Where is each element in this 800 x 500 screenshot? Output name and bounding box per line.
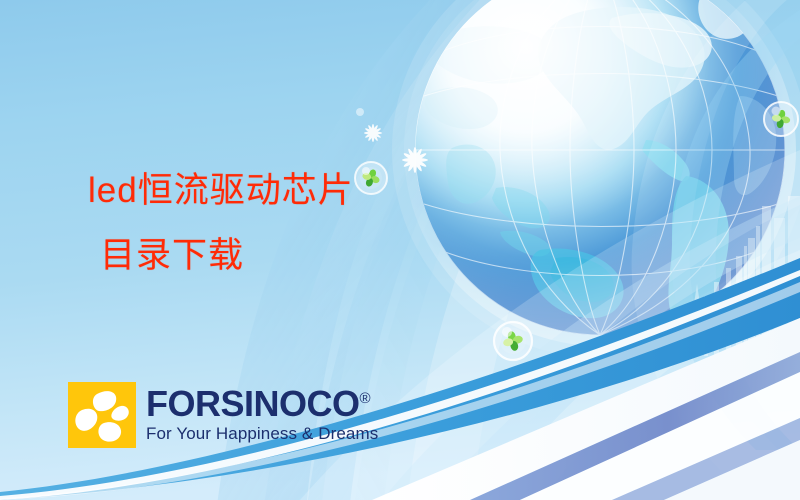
bubble-pinwheel-left [494, 322, 532, 360]
registered-trademark-icon: ® [360, 390, 371, 407]
brand-name-text: FORSINOCO [146, 383, 360, 424]
company-logo[interactable]: FORSINOCO® For Your Happiness & Dreams [68, 382, 378, 448]
promo-banner: led恒流驱动芯片 目录下载 FORSINOCO® For Your Happi… [0, 0, 800, 500]
forsinoco-pinwheel-mark [68, 382, 136, 448]
logo-wordmark: FORSINOCO® For Your Happiness & Dreams [146, 386, 378, 444]
bubble-pinwheel-right [764, 102, 798, 136]
headline-line-2: 目录下载 [100, 238, 244, 273]
brand-tagline: For Your Happiness & Dreams [146, 425, 378, 444]
headline-line-1: led恒流驱动芯片 [88, 173, 354, 208]
sparkle-dot [356, 108, 364, 116]
brand-name: FORSINOCO® [146, 386, 378, 422]
bubble-pinwheel-center [355, 162, 387, 194]
